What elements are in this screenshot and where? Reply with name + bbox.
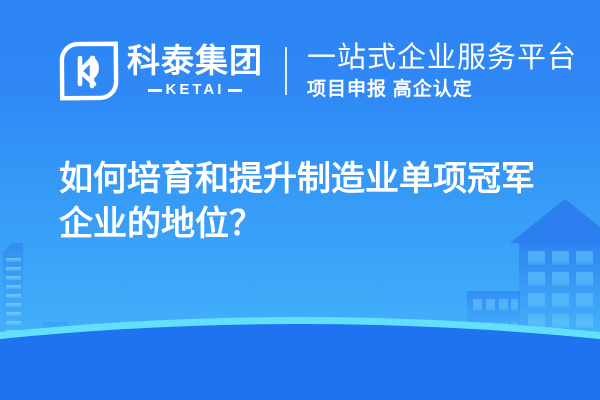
- skyscraper-icon: [3, 243, 23, 352]
- logo-name-en-text: KETAI: [166, 81, 225, 99]
- logo-dash-left: [148, 89, 162, 92]
- vertical-divider-icon: [285, 47, 287, 95]
- logo-name-en: KETAI: [127, 81, 263, 99]
- slogan-block: 一站式企业服务平台 项目申报 高企认定: [307, 38, 577, 104]
- slogan-main: 一站式企业服务平台: [307, 41, 577, 75]
- slogan-sub: 项目申报 高企认定: [307, 78, 577, 102]
- promo-banner: 科泰集团 KETAI 一站式企业服务平台 项目申报 高企认定 如何培育和提升制造…: [0, 0, 600, 400]
- logo-dash-right: [228, 89, 242, 92]
- logo-name-cn: 科泰集团: [127, 43, 263, 79]
- brand-logo[interactable]: 科泰集团 KETAI: [58, 34, 263, 108]
- curved-band-icon: [0, 310, 600, 400]
- low-building-icon: [467, 291, 520, 355]
- ketai-diamond-kp-logo-icon: [58, 40, 120, 102]
- low-building-icon: [25, 322, 69, 354]
- page-title: 如何培育和提升制造业单项冠军企业的地位？: [59, 157, 564, 247]
- banner-header: 科泰集团 KETAI 一站式企业服务平台 项目申报 高企认定: [58, 34, 577, 108]
